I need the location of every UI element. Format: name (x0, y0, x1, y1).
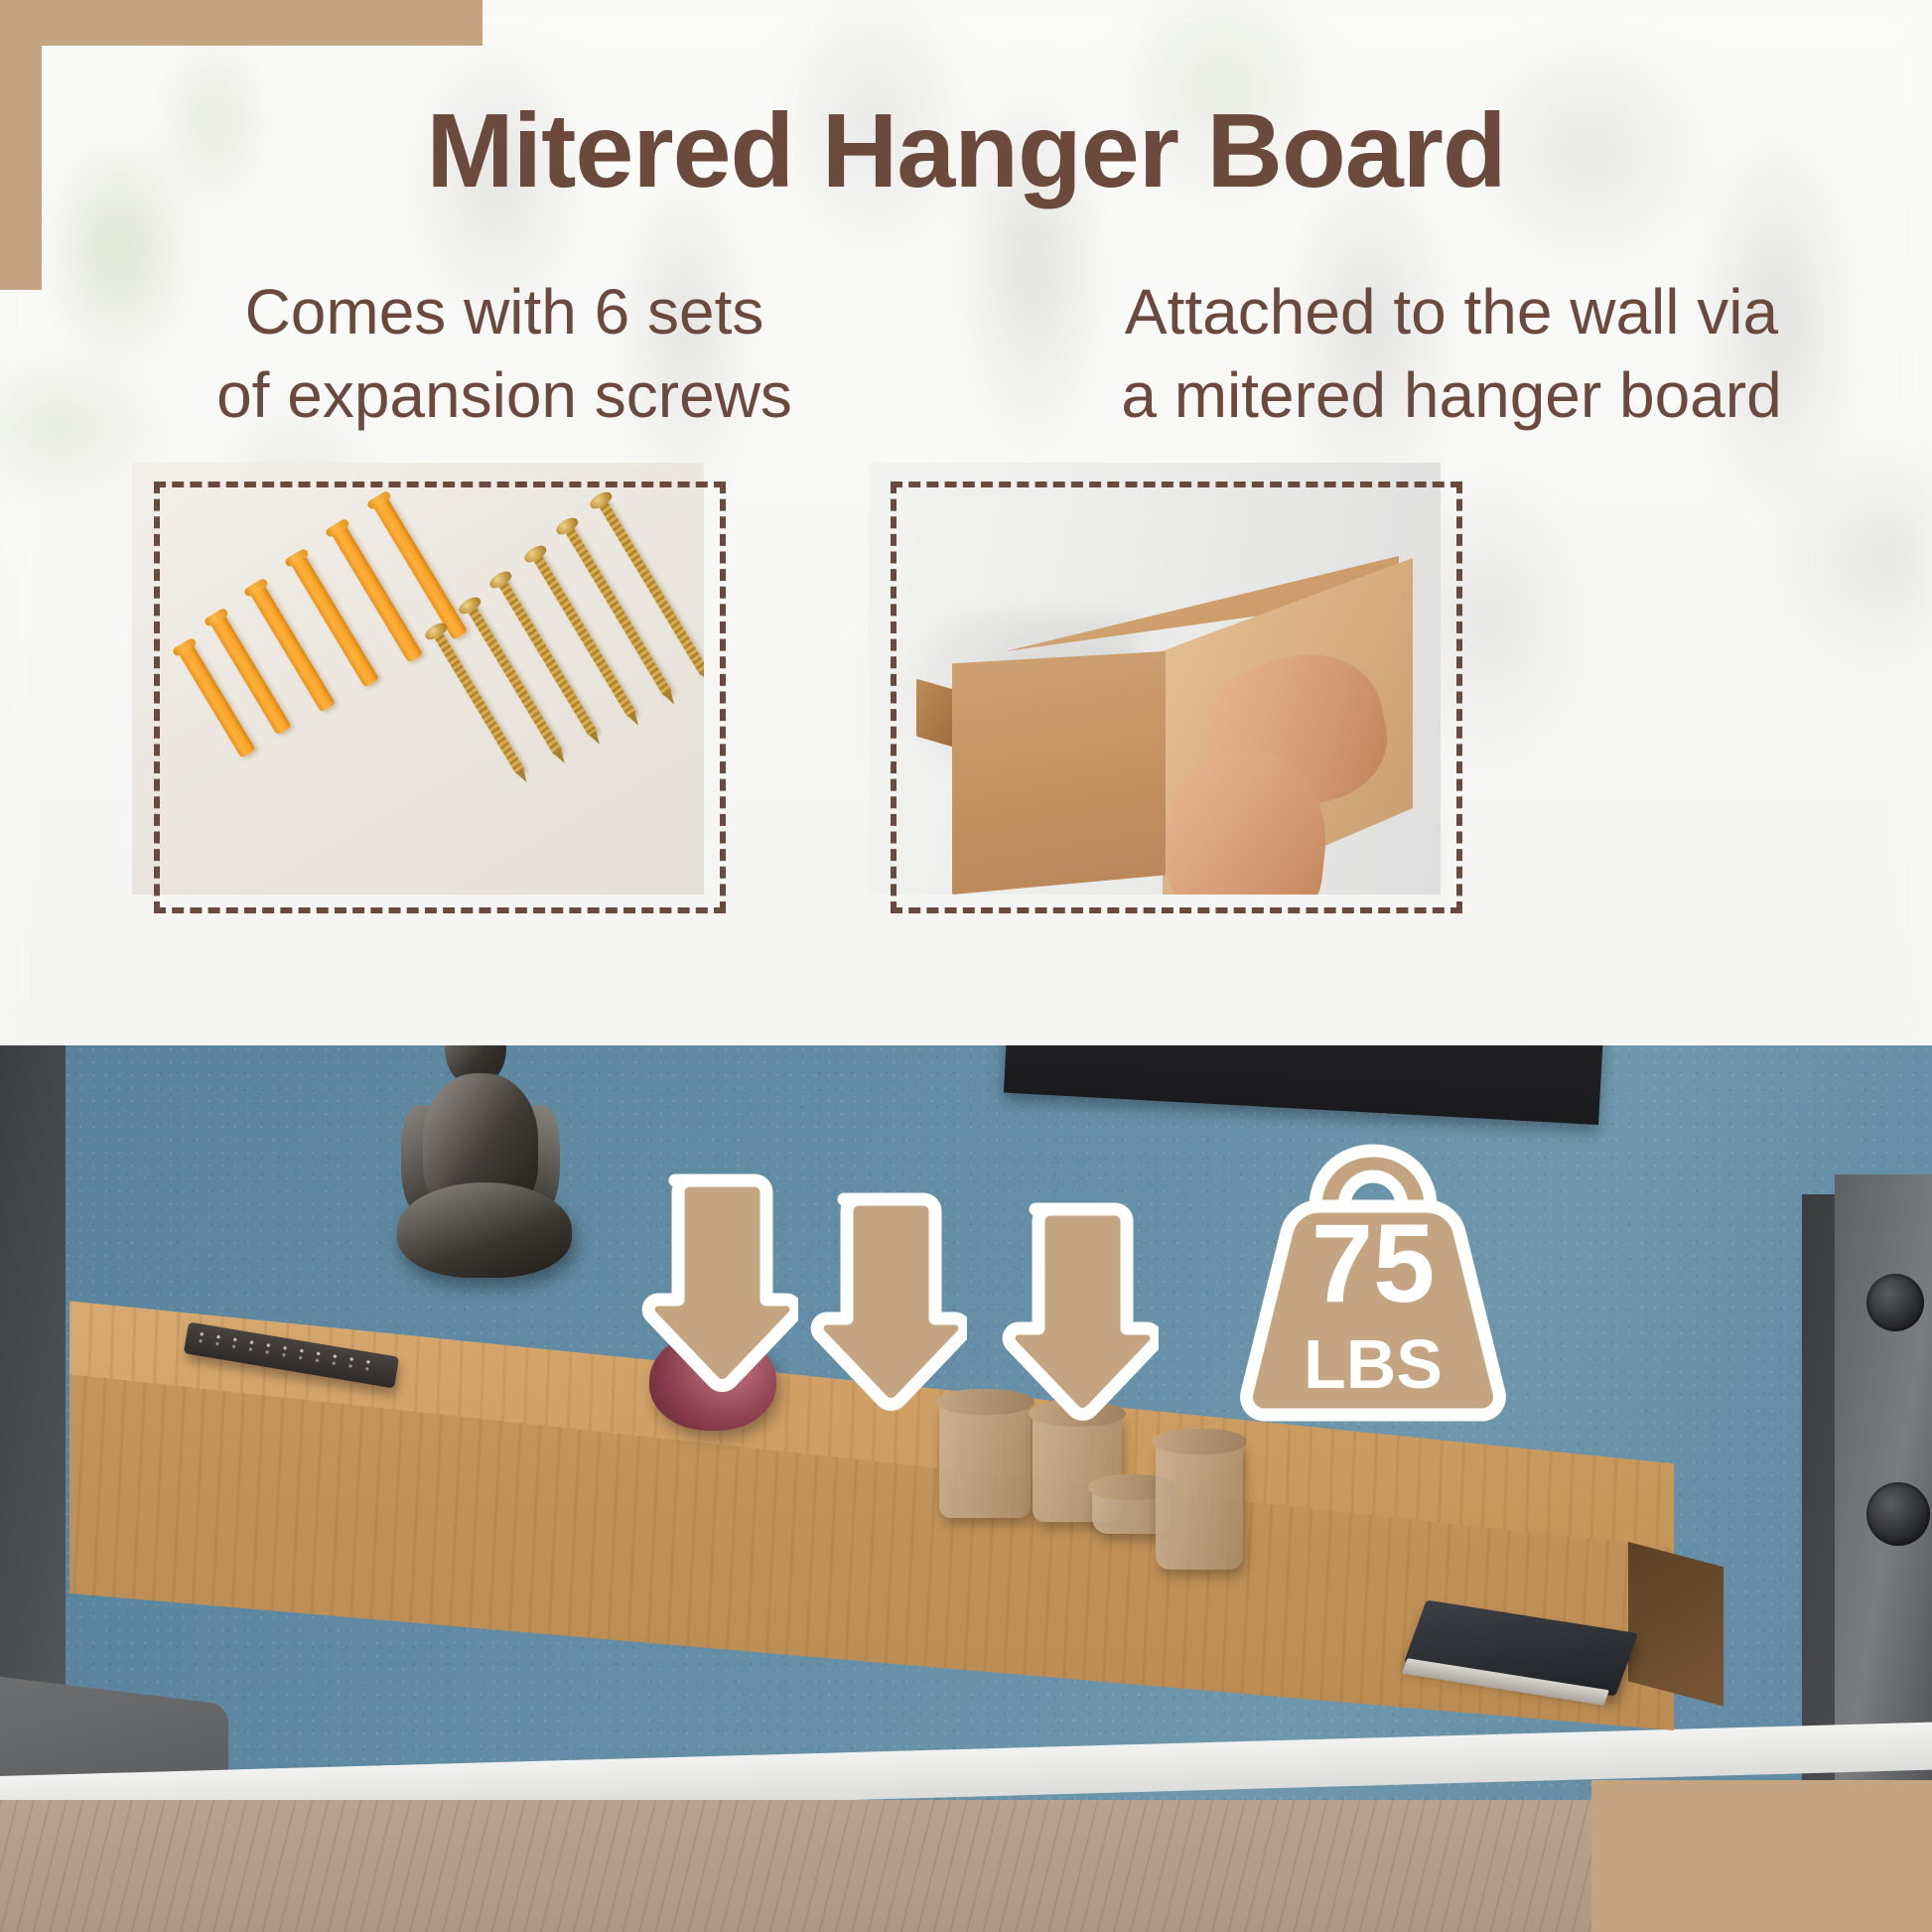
page-title: Mitered Hanger Board (0, 91, 1932, 211)
feature-caption-right: Attached to the wall via a mitered hange… (1015, 270, 1888, 438)
hanger-board-photo (869, 463, 1441, 895)
poster-canvas: Mitered Hanger Board Comes with 6 sets o… (0, 0, 1932, 1932)
speaker-woofer-icon (1866, 1482, 1930, 1546)
figurine-legs (397, 1182, 572, 1278)
feature-caption-right-line1: Attached to the wall via (1015, 270, 1888, 353)
left-dark-panel (0, 1045, 66, 1730)
top-info-panel: Mitered Hanger Board Comes with 6 sets o… (0, 0, 1932, 1048)
glass-candle-jar (1156, 1443, 1243, 1570)
speaker-tweeter-icon (1866, 1274, 1924, 1331)
screws-photo (132, 463, 704, 895)
corner-frame-top-vertical (0, 0, 42, 290)
feature-caption-right-line2: a mitered hanger board (1015, 353, 1888, 437)
feature-caption-left-line1: Comes with 6 sets (117, 270, 892, 353)
seated-figurine (389, 1045, 578, 1323)
load-arrow-down-icon (992, 1197, 1159, 1426)
weight-unit: LBS (1224, 1329, 1522, 1399)
weight-capacity-badge: 75 LBS (1224, 1135, 1522, 1439)
load-arrow-down-icon (800, 1187, 967, 1416)
load-arrow-down-icon (631, 1169, 798, 1397)
feature-caption-left: Comes with 6 sets of expansion screws (117, 270, 892, 438)
weight-value: 75 (1224, 1208, 1522, 1319)
corner-frame-top-horizontal (0, 0, 483, 46)
feature-caption-left-line2: of expansion screws (117, 353, 892, 437)
mantel-end-face (952, 651, 1166, 895)
corner-frame-bottom-right (1591, 1780, 1932, 1932)
